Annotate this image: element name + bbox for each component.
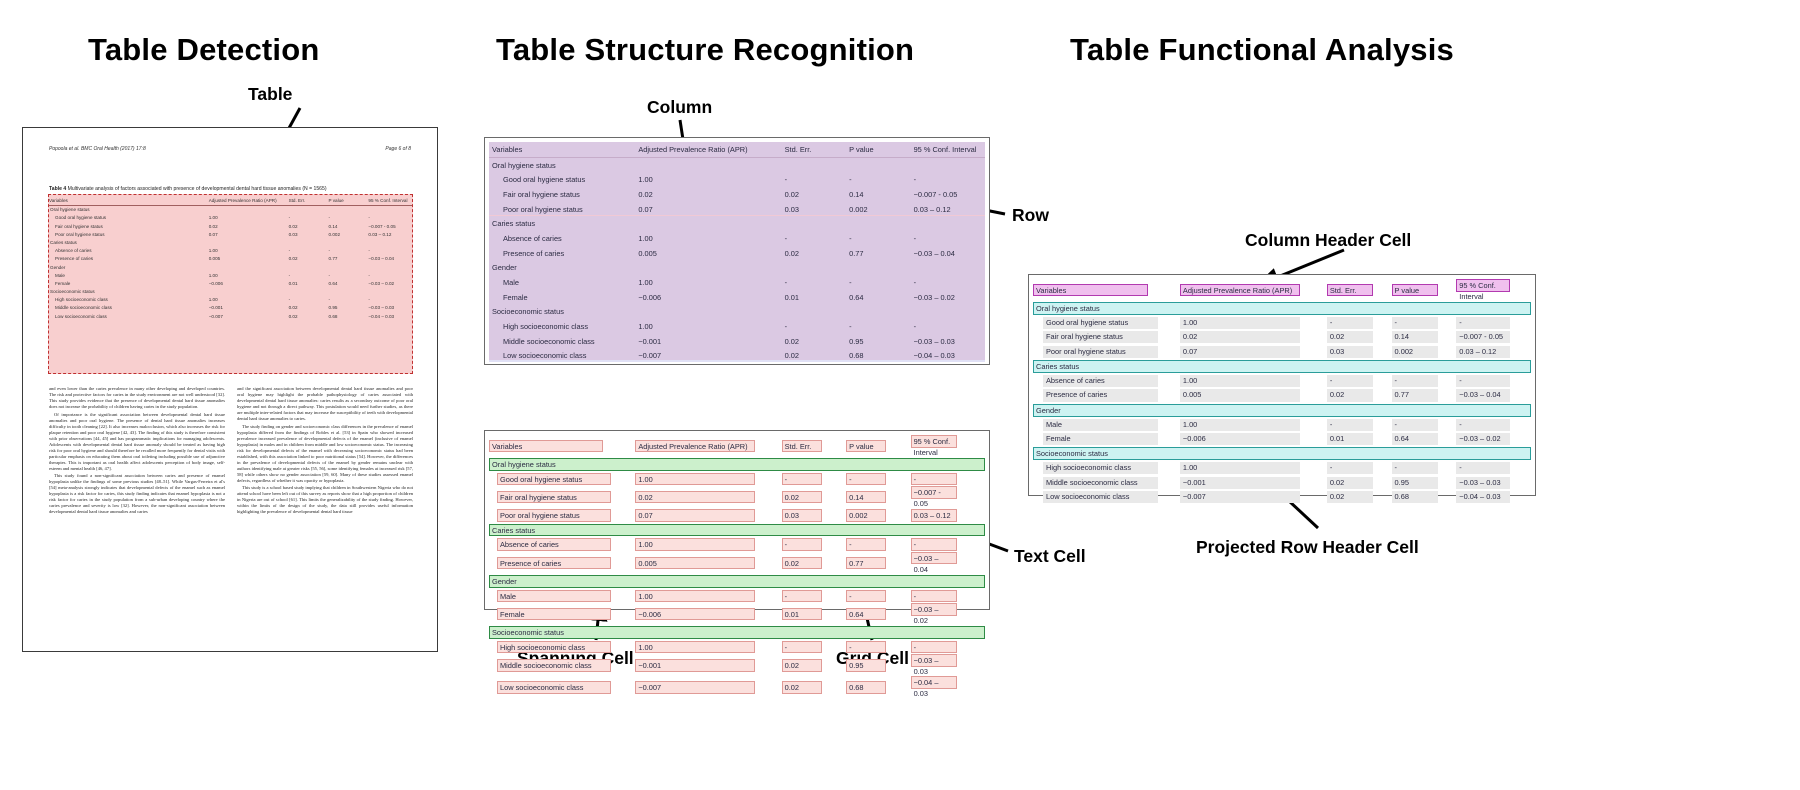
grid-cell[interactable]: 0.005 [635, 557, 755, 570]
table-row[interactable]: Female−0.0060.010.64−0.03 – 0.02 [489, 603, 985, 625]
table-cells-view[interactable]: VariablesAdjusted Prevalence Ratio (APR)… [484, 430, 990, 610]
data-cell[interactable]: −0.03 – 0.04 [911, 552, 985, 574]
grid-cell[interactable]: - [782, 641, 822, 654]
data-cell[interactable]: - [911, 589, 985, 604]
data-cell[interactable]: - [782, 589, 846, 604]
grid-cell[interactable]: 0.03 – 0.12 [911, 509, 957, 522]
data-cell: - [911, 275, 985, 290]
data-cell: - [1392, 461, 1457, 476]
data-cell: 0.64 [329, 279, 369, 287]
row-label-cell: High socioeconomic class [489, 319, 635, 334]
column-header-cell[interactable]: Adjusted Prevalence Ratio (APR) [1180, 279, 1327, 301]
grid-cell[interactable]: 0.002 [846, 509, 886, 522]
data-cell[interactable]: - [911, 537, 985, 552]
data-cell[interactable]: 0.68 [846, 676, 910, 698]
data-cell[interactable]: 0.14 [846, 486, 910, 508]
grid-cell[interactable]: −0.03 – 0.03 [911, 654, 957, 667]
grid-cell[interactable]: 0.95 [846, 659, 886, 672]
table-row[interactable]: Middle socioeconomic class−0.0010.020.95… [489, 334, 985, 349]
cell-text: 0.002 [846, 205, 868, 214]
grid-cell[interactable]: - [911, 641, 957, 654]
data-cell: - [1456, 316, 1531, 331]
data-cell[interactable]: 0.02 [782, 552, 846, 574]
grid-cell[interactable]: - [911, 538, 957, 551]
data-cell[interactable]: 0.64 [846, 603, 910, 625]
column-header-cell[interactable]: P value [846, 435, 910, 457]
data-cell[interactable]: - [846, 472, 910, 487]
data-cell: 0.02 [635, 187, 781, 202]
column-header-cell-box[interactable]: Std. Err. [1327, 284, 1374, 297]
grid-cell[interactable]: 0.02 [782, 491, 822, 504]
column-header-cell[interactable]: Std. Err. [782, 435, 846, 457]
row-label-cell[interactable]: Absence of caries [489, 537, 635, 552]
row-label-cell[interactable]: Fair oral hygiene status [489, 486, 635, 508]
data-cell: 0.01 [289, 279, 329, 287]
table-row[interactable]: Fair oral hygiene status0.020.020.14−0.0… [1033, 330, 1531, 345]
grid-cell[interactable]: 0.01 [782, 608, 822, 621]
column-header-cell[interactable]: Variables [489, 435, 635, 457]
table-row[interactable]: Socioeconomic status [1033, 446, 1531, 461]
data-cell: 0.68 [329, 312, 369, 320]
grid-cell[interactable]: −0.001 [635, 659, 755, 672]
grid-cell[interactable]: Presence of caries [497, 557, 611, 570]
data-cell[interactable]: - [782, 640, 846, 655]
row-header-cell: Gender [49, 263, 209, 271]
data-cell: 0.02 [1327, 330, 1392, 345]
data-cell: 1.00 [209, 247, 289, 255]
data-cell [635, 261, 781, 276]
cell-text: - [782, 175, 787, 184]
data-cell[interactable]: −0.03 – 0.02 [911, 603, 985, 625]
row-label-cell: Middle socioeconomic class [1033, 476, 1180, 491]
data-cell: 0.14 [846, 187, 910, 202]
spanning-cell-box[interactable]: Socioeconomic status [489, 626, 985, 639]
column-header-cell: P value [846, 142, 910, 157]
row-label-cell: Poor oral hygiene status [49, 230, 209, 238]
text-cell: 0.95 [1392, 477, 1439, 489]
text-cell: - [1456, 375, 1510, 387]
table-row[interactable]: Good oral hygiene status1.00--- [489, 172, 985, 187]
data-cell[interactable]: −0.007 - 0.05 [911, 486, 985, 508]
table-row[interactable]: Low socioeconomic class−0.0070.020.68−0.… [489, 676, 985, 698]
data-cell[interactable]: - [782, 472, 846, 487]
cell-text: Good oral hygiene status [489, 175, 585, 184]
row-label-cell: Female [489, 290, 635, 305]
data-cell[interactable]: 0.02 [782, 486, 846, 508]
data-cell[interactable]: - [846, 640, 910, 655]
grid-cell[interactable]: Middle socioeconomic class [497, 659, 611, 672]
data-cell[interactable]: - [911, 640, 985, 655]
paper-body-text: and even lower than the caries prevalenc… [49, 386, 413, 631]
data-cell [782, 261, 846, 276]
projected-row-header-box[interactable]: Socioeconomic status [1033, 447, 1531, 460]
table-row[interactable]: Gender [489, 574, 985, 589]
data-cell: −0.03 – 0.03 [1456, 476, 1531, 491]
grid-cell[interactable]: - [911, 473, 957, 486]
table-row[interactable]: Socioeconomic status [489, 305, 985, 320]
table-functional-analysis-view[interactable]: VariablesAdjusted Prevalence Ratio (APR)… [1028, 274, 1536, 496]
row-label-cell: Good oral hygiene status [489, 172, 635, 187]
grid-cell[interactable]: - [846, 590, 886, 603]
annotation-table: Table [248, 84, 292, 105]
text-cell: - [1392, 375, 1439, 387]
grid-cell[interactable]: - [911, 590, 957, 603]
table-row[interactable]: Absence of caries1.00--- [489, 231, 985, 246]
table-row[interactable]: Gender [1033, 403, 1531, 418]
data-cell[interactable]: - [911, 472, 985, 487]
data-cell[interactable]: 0.03 – 0.12 [911, 508, 985, 523]
data-cell: −0.04 – 0.03 [1456, 490, 1531, 505]
data-cell[interactable]: 0.02 [635, 486, 781, 508]
cell-text: - [846, 234, 851, 243]
data-cell: −0.001 [209, 304, 289, 312]
grid-cell[interactable]: - [782, 590, 822, 603]
spanning-cell[interactable]: Oral hygiene status [489, 457, 985, 472]
data-cell[interactable]: 0.77 [846, 552, 910, 574]
cell-text: 0.005 [635, 249, 657, 258]
column-header-cell-box[interactable]: Variables [1033, 284, 1148, 297]
data-cell [368, 263, 412, 271]
data-cell[interactable]: −0.006 [635, 603, 781, 625]
text-cell: High socioeconomic class [1043, 462, 1158, 474]
grid-cell[interactable]: −0.03 – 0.02 [911, 603, 957, 616]
table-row[interactable]: High socioeconomic class1.00--- [489, 640, 985, 655]
data-cell[interactable]: 0.03 [782, 508, 846, 523]
grid-cell[interactable]: −0.007 [635, 681, 755, 694]
grid-cell[interactable]: Variables [489, 440, 603, 453]
table-row[interactable]: Presence of caries0.0050.020.77−0.03 – 0… [489, 246, 985, 261]
data-cell: - [1392, 374, 1457, 389]
data-cell: −0.007 [635, 349, 781, 364]
grid-cell[interactable]: −0.007 - 0.05 [911, 486, 957, 499]
data-cell[interactable]: 1.00 [635, 640, 781, 655]
paragraph: This study found a non-significant assoc… [49, 473, 225, 515]
table-row[interactable]: Presence of caries0.0050.020.77−0.03 – 0… [1033, 388, 1531, 403]
annotation-column-header-cell: Column Header Cell [1245, 230, 1411, 251]
column-header-cell[interactable]: Adjusted Prevalence Ratio (APR) [635, 435, 781, 457]
column-header-cell-box[interactable]: P value [1392, 284, 1439, 297]
column-header-cell-box[interactable]: 95 % Conf. Interval [1456, 279, 1510, 292]
row-header-cell: Socioeconomic status [489, 305, 635, 320]
data-cell[interactable]: 1.00 [635, 537, 781, 552]
data-cell: - [1327, 461, 1392, 476]
table-row[interactable]: Female−0.0060.010.64−0.03 – 0.02 [489, 290, 985, 305]
grid-cell[interactable]: 0.77 [846, 557, 886, 570]
paragraph: This study is a school based study imply… [237, 485, 413, 515]
cell-text: Variables [489, 145, 522, 154]
cell-text: 0.03 [782, 205, 799, 214]
row-label-cell: Good oral hygiene status [49, 214, 209, 222]
table-row[interactable]: High socioeconomic class1.00--- [489, 319, 985, 334]
row-label-cell[interactable]: Female [489, 603, 635, 625]
table-row[interactable]: Fair oral hygiene status0.020.020.14−0.0… [489, 486, 985, 508]
paragraph: The study finding on gender and socioeco… [237, 424, 413, 484]
data-cell: - [846, 172, 910, 187]
data-cell[interactable]: −0.001 [635, 654, 781, 676]
data-cell [782, 216, 846, 231]
grid-cell[interactable]: 0.02 [782, 681, 822, 694]
table-row[interactable]: Female−0.0060.010.64−0.03 – 0.02 [1033, 432, 1531, 447]
data-cell[interactable]: 0.005 [635, 552, 781, 574]
row-label-cell[interactable]: Middle socioeconomic class [489, 654, 635, 676]
data-cell: 0.95 [329, 304, 369, 312]
table-row: Good oral hygiene status1.00--- [49, 214, 412, 222]
grid-cell[interactable]: P value [846, 440, 886, 453]
table-structure-recognition-view[interactable]: VariablesAdjusted Prevalence Ratio (APR)… [484, 137, 990, 365]
data-cell[interactable]: - [782, 537, 846, 552]
grid-cell[interactable]: 1.00 [635, 641, 755, 654]
table-row[interactable]: Male1.00--- [1033, 417, 1531, 432]
grid-cell[interactable]: Low socioeconomic class [497, 681, 611, 694]
data-cell: −0.006 [209, 279, 289, 287]
cell-text: Gender [489, 263, 517, 272]
projected-row-header-box[interactable]: Gender [1033, 404, 1531, 417]
column-header-cell-box[interactable]: Adjusted Prevalence Ratio (APR) [1180, 284, 1300, 297]
cell-text: 1.00 [635, 278, 652, 287]
grid-cell[interactable]: −0.04 – 0.03 [911, 676, 957, 689]
grid-cell[interactable]: 0.03 [782, 509, 822, 522]
data-cell [289, 205, 329, 214]
grid-cell[interactable]: 1.00 [635, 473, 755, 486]
data-cell: 0.02 [1327, 476, 1392, 491]
table-row[interactable]: Caries status [489, 523, 985, 538]
table-row[interactable]: Oral hygiene status [489, 457, 985, 472]
spanning-cell[interactable]: Socioeconomic status [489, 625, 985, 640]
row-label-cell[interactable]: Poor oral hygiene status [489, 508, 635, 523]
cell-text: 0.07 [635, 205, 652, 214]
table-row[interactable]: Caries status [489, 216, 985, 231]
grid-cell[interactable]: Good oral hygiene status [497, 473, 611, 486]
table-row: Absence of caries1.00--- [49, 247, 412, 255]
cell-text: Oral hygiene status [489, 161, 556, 170]
row-label-cell: Low socioeconomic class [49, 312, 209, 320]
data-cell[interactable]: 0.02 [782, 676, 846, 698]
text-cell: 0.02 [1180, 331, 1300, 343]
grid-cell[interactable]: 0.68 [846, 681, 886, 694]
paper-running-head: Popoola et al. BMC Oral Health (2017) 17… [49, 146, 411, 152]
row-label-cell: Male [1033, 417, 1180, 432]
projected-row-header-cell[interactable]: Socioeconomic status [1033, 446, 1531, 461]
data-cell[interactable]: 1.00 [635, 472, 781, 487]
table-row[interactable]: Good oral hygiene status1.00--- [1033, 316, 1531, 331]
table-row[interactable]: Presence of caries0.0050.020.77−0.03 – 0… [489, 552, 985, 574]
grid-cell[interactable]: - [846, 538, 886, 551]
data-cell: 0.01 [782, 290, 846, 305]
grid-cell[interactable]: - [846, 473, 886, 486]
projected-row-header-box[interactable]: Caries status [1033, 360, 1531, 373]
grid-cell[interactable]: 1.00 [635, 538, 755, 551]
cell-text: Female [489, 293, 528, 302]
grid-cell[interactable]: 0.02 [635, 491, 755, 504]
grid-cell[interactable]: High socioeconomic class [497, 641, 611, 654]
column-header-cell: Adjusted Prevalence Ratio (APR) [209, 196, 289, 205]
text-cell: 0.14 [1392, 331, 1439, 343]
data-cell: - [1456, 417, 1531, 432]
text-cell: 1.00 [1180, 375, 1300, 387]
cell-text: - [911, 234, 916, 243]
grid-cell[interactable]: Absence of caries [497, 538, 611, 551]
spanning-cell[interactable]: Caries status [489, 523, 985, 538]
table-caption-label: Table 4 [49, 186, 66, 192]
table-row[interactable]: Poor oral hygiene status0.070.030.0020.0… [1033, 345, 1531, 360]
functional-table: VariablesAdjusted Prevalence Ratio (APR)… [1033, 279, 1531, 505]
table-row[interactable]: Middle socioeconomic class−0.0010.020.95… [1033, 476, 1531, 491]
data-cell[interactable]: −0.03 – 0.03 [911, 654, 985, 676]
row-label-cell[interactable]: High socioeconomic class [489, 640, 635, 655]
grid-cell[interactable]: Std. Err. [782, 440, 822, 453]
projected-row-header-cell[interactable]: Caries status [1033, 359, 1531, 374]
data-cell: −0.007 [209, 312, 289, 320]
grid-cell[interactable]: 0.07 [635, 509, 755, 522]
grid-cell[interactable]: Adjusted Prevalence Ratio (APR) [635, 440, 755, 453]
row-label-cell: Presence of caries [489, 246, 635, 261]
table-row[interactable]: Socioeconomic status [489, 625, 985, 640]
cell-text: - [782, 278, 787, 287]
projected-row-header-box[interactable]: Oral hygiene status [1033, 302, 1531, 315]
data-cell[interactable]: 1.00 [635, 589, 781, 604]
data-cell: - [368, 247, 412, 255]
cell-text: - [782, 234, 787, 243]
row-label-cell[interactable]: Presence of caries [489, 552, 635, 574]
grid-cell[interactable]: 0.02 [782, 659, 822, 672]
data-cell: 0.02 [782, 187, 846, 202]
grid-cell[interactable]: 0.64 [846, 608, 886, 621]
text-cell: 0.03 – 0.12 [1456, 346, 1510, 358]
data-cell[interactable]: 0.01 [782, 603, 846, 625]
grid-cell[interactable]: −0.006 [635, 608, 755, 621]
column-header-cell[interactable]: 95 % Conf. Interval [911, 435, 985, 457]
data-cell: 1.00 [209, 296, 289, 304]
column-header-cell[interactable]: 95 % Conf. Interval [1456, 279, 1531, 301]
data-cell [209, 287, 289, 295]
table-row[interactable]: Gender [489, 261, 985, 276]
cell-text: Middle socioeconomic class [489, 337, 595, 346]
table-row[interactable]: Oral hygiene status [1033, 301, 1531, 316]
detected-table-region[interactable]: VariablesAdjusted Prevalence Ratio (APR)… [48, 194, 413, 374]
data-cell: - [368, 296, 412, 304]
structure-table: VariablesAdjusted Prevalence Ratio (APR)… [489, 142, 985, 363]
cell-text: - [911, 322, 916, 331]
table-row[interactable]: Low socioeconomic class−0.0070.020.68−0.… [489, 349, 985, 364]
text-cell: −0.006 [1180, 433, 1300, 445]
row-label-cell[interactable]: Good oral hygiene status [489, 472, 635, 487]
data-cell: −0.03 – 0.04 [911, 246, 985, 261]
table-row[interactable]: Good oral hygiene status1.00--- [489, 472, 985, 487]
data-cell[interactable]: −0.04 – 0.03 [911, 676, 985, 698]
table-row[interactable]: Oral hygiene status [489, 157, 985, 172]
text-cell: 0.005 [1180, 389, 1300, 401]
cell-text: 0.68 [846, 351, 863, 360]
data-cell [911, 216, 985, 231]
data-cell[interactable]: 0.07 [635, 508, 781, 523]
table-row[interactable]: Middle socioeconomic class−0.0010.020.95… [489, 654, 985, 676]
grid-cell[interactable]: Poor oral hygiene status [497, 509, 611, 522]
table-caption-text: Multivariate analysis of factors associa… [68, 186, 327, 192]
row-label-cell: Presence of caries [49, 255, 209, 263]
table-row[interactable]: Male1.00--- [489, 275, 985, 290]
table-row[interactable]: Male1.00--- [489, 589, 985, 604]
text-cell: - [1392, 462, 1439, 474]
data-cell[interactable]: 0.95 [846, 654, 910, 676]
data-cell: - [1327, 417, 1392, 432]
data-cell: - [289, 247, 329, 255]
data-cell: 0.07 [1180, 345, 1327, 360]
text-cell: 0.07 [1180, 346, 1300, 358]
data-cell: 0.01 [1327, 432, 1392, 447]
row-label-cell[interactable]: Low socioeconomic class [489, 676, 635, 698]
spanning-cell-box[interactable]: Caries status [489, 524, 985, 537]
grid-cell[interactable]: −0.03 – 0.04 [911, 552, 957, 565]
data-cell[interactable]: 0.02 [782, 654, 846, 676]
row-label-cell[interactable]: Male [489, 589, 635, 604]
grid-cell[interactable]: - [846, 641, 886, 654]
text-cell: 0.02 [1327, 389, 1374, 401]
grid-cell[interactable]: 1.00 [635, 590, 755, 603]
text-cell: 0.03 [1327, 346, 1374, 358]
text-cell: Fair oral hygiene status [1043, 331, 1158, 343]
cell-text: Low socioeconomic class [489, 351, 586, 360]
data-cell: - [1327, 374, 1392, 389]
data-cell[interactable]: 0.002 [846, 508, 910, 523]
projected-row-header-cell[interactable]: Oral hygiene status [1033, 301, 1531, 316]
grid-cell[interactable]: Male [497, 590, 611, 603]
table-row: Middle socioeconomic class−0.0010.020.95… [49, 304, 412, 312]
grid-cell[interactable]: - [782, 538, 822, 551]
data-cell: - [1456, 461, 1531, 476]
grid-cell[interactable]: 95 % Conf. Interval [911, 435, 957, 448]
data-cell: −0.04 – 0.03 [368, 312, 412, 320]
grid-cell[interactable]: - [782, 473, 822, 486]
projected-row-header-cell[interactable]: Gender [1033, 403, 1531, 418]
table-row[interactable]: Absence of caries1.00--- [489, 537, 985, 552]
table-row: Male1.00--- [49, 271, 412, 279]
data-cell: 0.68 [1392, 490, 1457, 505]
data-cell [911, 157, 985, 172]
grid-cell[interactable]: Female [497, 608, 611, 621]
data-cell: 0.02 [289, 222, 329, 230]
table-row[interactable]: Low socioeconomic class−0.0070.020.68−0.… [1033, 490, 1531, 505]
table-row[interactable]: Fair oral hygiene status0.020.020.14−0.0… [489, 187, 985, 202]
spanning-cell[interactable]: Gender [489, 574, 985, 589]
column-header-cell[interactable]: Std. Err. [1327, 279, 1392, 301]
column-header-cell[interactable]: P value [1392, 279, 1457, 301]
data-cell[interactable]: −0.007 [635, 676, 781, 698]
spanning-cell-box[interactable]: Oral hygiene status [489, 458, 985, 471]
table-row[interactable]: Poor oral hygiene status0.070.030.0020.0… [489, 508, 985, 523]
panel-title-table-detection: Table Detection [88, 32, 320, 68]
column-header-cell[interactable]: Variables [1033, 279, 1180, 301]
grid-cell[interactable]: 0.02 [782, 557, 822, 570]
data-cell [911, 261, 985, 276]
cell-text: - [846, 278, 851, 287]
table-row[interactable]: Poor oral hygiene status0.070.030.0020.0… [489, 202, 985, 217]
table-row[interactable]: High socioeconomic class1.00--- [1033, 461, 1531, 476]
grid-cell[interactable]: 0.14 [846, 491, 886, 504]
data-cell[interactable]: - [846, 589, 910, 604]
data-cell: 0.77 [846, 246, 910, 261]
data-cell [782, 305, 846, 320]
table-row[interactable]: Absence of caries1.00--- [1033, 374, 1531, 389]
table-row[interactable]: Caries status [1033, 359, 1531, 374]
spanning-cell-box[interactable]: Gender [489, 575, 985, 588]
cell-text: −0.001 [635, 337, 661, 346]
text-cell: - [1392, 317, 1439, 329]
row-label-cell: Absence of caries [489, 231, 635, 246]
data-cell: - [846, 275, 910, 290]
grid-cell[interactable]: Fair oral hygiene status [497, 491, 611, 504]
data-cell [368, 205, 412, 214]
data-cell[interactable]: - [846, 537, 910, 552]
